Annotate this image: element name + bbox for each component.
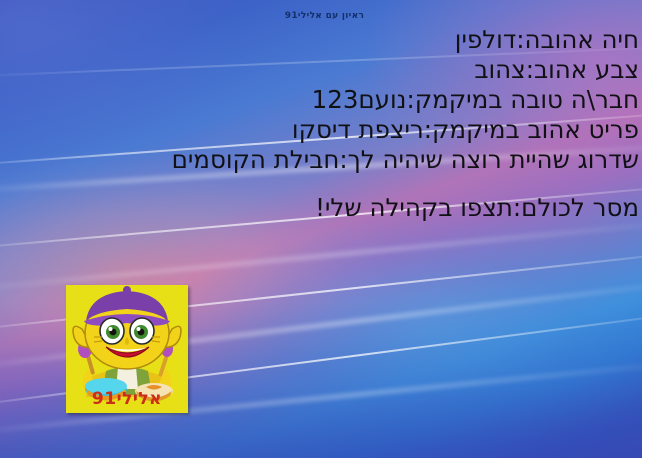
slide-title: ראיון עם אלילי91 [0, 11, 649, 21]
slide-body-text: חיה אהובה:דולפין צבע אהוב:צהוב חבר\ה טוב… [7, 25, 639, 223]
body-line-1: חיה אהובה:דולפין [7, 25, 639, 55]
body-line-3: חבר\ה טובה במיקמק:נועם123 [7, 85, 639, 115]
body-line-4: פריט אהוב במיקמק:ריצפת דיסקו [7, 115, 639, 145]
light-streak-9 [0, 215, 649, 293]
body-line-5: שדרוג שהיית רוצה שיהיה לך:חבילת הקוסמים [7, 145, 639, 175]
body-line-6: מסר לכולם:תצפו בקהילה שלי! [7, 193, 639, 223]
right-margin-strip [642, 0, 649, 458]
avatar-caption: אלילי91 [66, 389, 188, 409]
presentation-slide: ראיון עם אלילי91 חיה אהובה:דולפין צבע אה… [0, 0, 649, 458]
body-line-2: צבע אהוב:צהוב [7, 55, 639, 85]
avatar: אלילי91 [66, 285, 188, 413]
